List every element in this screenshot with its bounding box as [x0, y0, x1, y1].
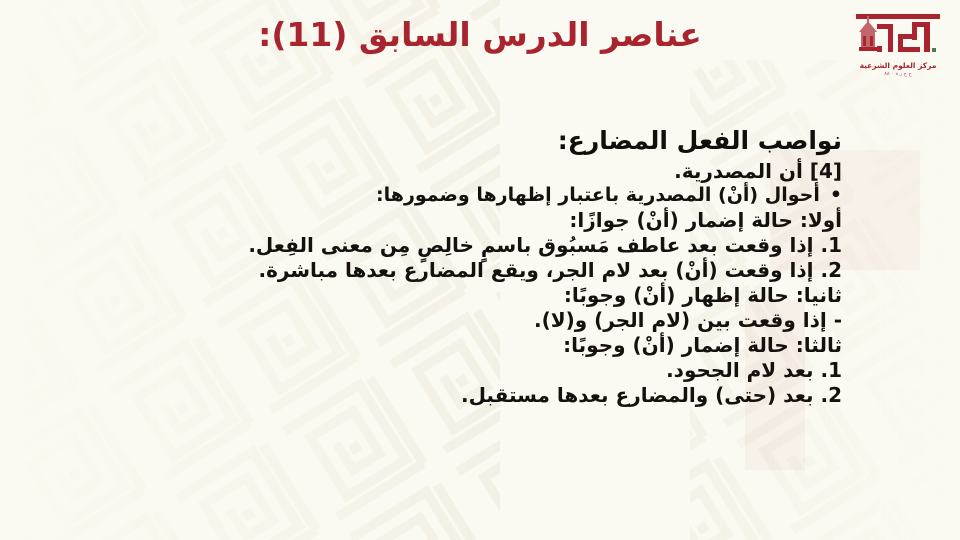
- line-text: أن المصدرية.: [674, 159, 803, 183]
- content-line: ثالثا: حالة إضمار (أنْ) وجوبًا:: [116, 335, 842, 355]
- bullet-icon: •: [830, 186, 842, 205]
- content-line: أولا: حالة إضمار (أنْ) جوازًا:: [116, 210, 842, 230]
- line-marker: 1.: [820, 233, 842, 257]
- line-marker: [4]: [810, 159, 842, 183]
- line-marker: -: [834, 308, 842, 332]
- line-text: بعد (حتى) والمضارع بعدها مستقبل.: [461, 383, 814, 407]
- line-text: إذا وقعت بعد عاطف مَسبُوق باسمٍ خالِصٍ م…: [248, 233, 813, 257]
- line-text: ثانيا: حالة إظهار (أنْ) وجوبًا:: [564, 283, 842, 307]
- content-heading: نواصب الفعل المضارع:: [116, 128, 842, 153]
- content-line: •أحوال (أنْ) المصدرية باعتبار إظهارها وض…: [116, 186, 842, 205]
- line-marker: 1.: [820, 358, 842, 382]
- line-text: ثالثا: حالة إضمار (أنْ) وجوبًا:: [563, 333, 842, 357]
- content-line-list: [4] أن المصدرية.•أحوال (أنْ) المصدرية با…: [116, 161, 842, 405]
- content-line: 1. إذا وقعت بعد عاطف مَسبُوق باسمٍ خالِص…: [116, 235, 842, 255]
- line-marker: 2.: [820, 383, 842, 407]
- lesson-content: نواصب الفعل المضارع: [4] أن المصدرية.•أح…: [116, 128, 842, 410]
- line-text: إذا وقعت بين (لام الجر) و(لا).: [534, 308, 827, 332]
- line-text: بعد لام الجحود.: [666, 358, 813, 382]
- line-marker: 2.: [820, 258, 842, 282]
- slide-canvas: عناصر الدرس السابق (11):: [0, 0, 960, 540]
- line-text: أحوال (أنْ) المصدرية باعتبار إظهارها وضم…: [376, 184, 820, 206]
- brand-logo: مركز العلوم الشرعية ح ج ر ة ٠ ٨٨: [850, 12, 946, 94]
- line-text: أولا: حالة إضمار (أنْ) جوازًا:: [569, 208, 842, 232]
- content-line: ثانيا: حالة إظهار (أنْ) وجوبًا:: [116, 285, 842, 305]
- page-title: عناصر الدرس السابق (11):: [0, 14, 960, 55]
- ihkam-wordmark-icon: [852, 12, 944, 60]
- content-line: 2. إذا وقعت (أنْ) بعد لام الجر، ويقع الم…: [116, 260, 842, 280]
- content-line: 2. بعد (حتى) والمضارع بعدها مستقبل.: [116, 385, 842, 405]
- content-line: 1. بعد لام الجحود.: [116, 360, 842, 380]
- logo-subtitle-small: ح ج ر ة ٠ ٨٨: [850, 71, 946, 77]
- line-text: إذا وقعت (أنْ) بعد لام الجر، ويقع المضار…: [258, 258, 813, 282]
- content-line: - إذا وقعت بين (لام الجر) و(لا).: [116, 310, 842, 330]
- content-line: [4] أن المصدرية.: [116, 161, 842, 181]
- logo-subtitle: مركز العلوم الشرعية: [850, 62, 946, 71]
